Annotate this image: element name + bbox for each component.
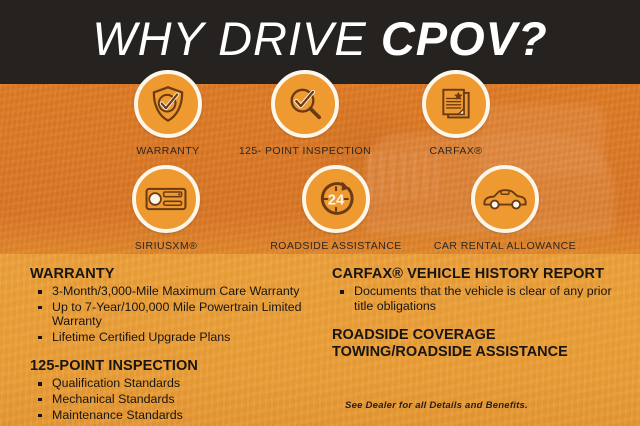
details-section: WARRANTY 3-Month/3,000-Mile Maximum Care…	[0, 258, 640, 426]
towing-roadside-heading: TOWING/ROADSIDE ASSISTANCE	[332, 344, 622, 361]
shield-check-icon	[148, 84, 188, 124]
title-bold-part: CPOV?	[381, 12, 548, 65]
roadside-coverage-heading: ROADSIDE COVERAGE	[332, 327, 622, 344]
badge-label: 125- POINT INSPECTION	[225, 145, 385, 157]
right-details-column: CARFAX® VEHICLE HISTORY REPORT Documents…	[332, 266, 622, 360]
car-stereo-icon	[145, 184, 187, 214]
badge-disc	[132, 165, 200, 233]
title-light-part: WHY DRIVE	[92, 12, 381, 65]
badge-disc	[134, 70, 202, 138]
benefit-badge-grid: WARRANTY 125- POINT INSPECTION	[0, 66, 640, 256]
list-item: Maintenance Standards	[32, 408, 330, 423]
badge-disc	[422, 70, 490, 138]
badge-label: ROADSIDE ASSISTANCE	[256, 240, 416, 252]
disclaimer-text: See Dealer for all Details and Benefits.	[345, 400, 528, 411]
list-item: Qualification Standards	[32, 376, 330, 391]
rental-car-icon	[482, 185, 528, 213]
document-star-icon	[437, 85, 475, 123]
list-item: Up to 7-Year/100,000 Mile Powertrain Lim…	[32, 300, 330, 329]
badge-125-point-inspection[interactable]: 125- POINT INSPECTION	[225, 70, 385, 157]
badge-siriusxm[interactable]: SIRIUSXM®	[103, 165, 229, 252]
badge-label: SIRIUSXM®	[103, 240, 229, 252]
list-item: 3-Month/3,000-Mile Maximum Care Warranty	[32, 284, 330, 299]
magnifier-check-icon	[285, 84, 325, 124]
badge-label: WARRANTY	[105, 145, 231, 157]
badge-label: CAR RENTAL ALLOWANCE	[405, 240, 605, 252]
carfax-heading: CARFAX® VEHICLE HISTORY REPORT	[332, 266, 622, 282]
inspection-bullet-list: Qualification Standards Mechanical Stand…	[32, 376, 330, 422]
inspection-heading: 125-POINT INSPECTION	[30, 358, 330, 374]
badge-disc	[471, 165, 539, 233]
svg-text:24: 24	[328, 192, 345, 208]
badge-car-rental-allowance[interactable]: CAR RENTAL ALLOWANCE	[405, 165, 605, 252]
left-details-column: WARRANTY 3-Month/3,000-Mile Maximum Care…	[30, 266, 330, 423]
clock-24-arrow-icon: 24	[315, 178, 357, 220]
badge-disc	[271, 70, 339, 138]
carfax-bullet-list: Documents that the vehicle is clear of a…	[334, 284, 622, 313]
badge-disc: 24	[302, 165, 370, 233]
list-item: Lifetime Certified Upgrade Plans	[32, 330, 330, 345]
page-title: WHY DRIVE CPOV?	[0, 8, 640, 70]
badge-warranty[interactable]: WARRANTY	[105, 70, 231, 157]
cpov-benefits-infographic: WHY DRIVE CPOV? WARRANTY	[0, 0, 640, 426]
list-item: Mechanical Standards	[32, 392, 330, 407]
warranty-heading: WARRANTY	[30, 266, 330, 282]
badge-roadside-assistance[interactable]: 24 ROADSIDE ASSISTANCE	[256, 165, 416, 252]
badge-carfax[interactable]: CARFAX®	[393, 70, 519, 157]
warranty-bullet-list: 3-Month/3,000-Mile Maximum Care Warranty…	[32, 284, 330, 344]
badge-label: CARFAX®	[393, 145, 519, 157]
list-item: Documents that the vehicle is clear of a…	[334, 284, 622, 313]
